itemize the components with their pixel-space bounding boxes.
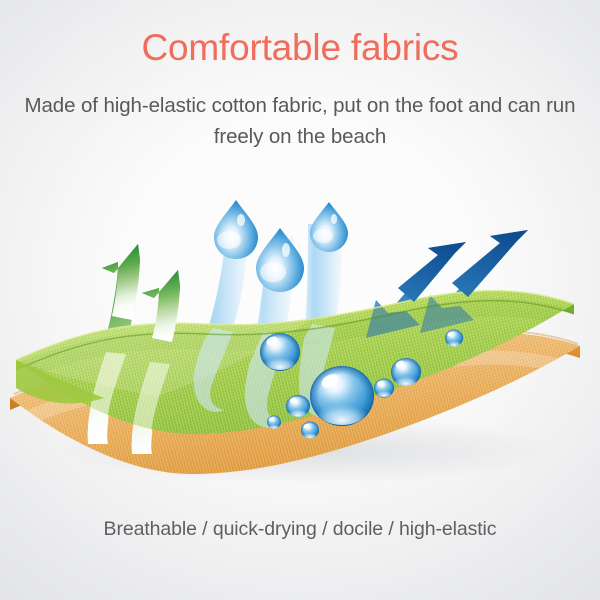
- vapor-droplet-3: [310, 202, 348, 252]
- vapor-droplet-2: [256, 228, 304, 292]
- vapor-droplet-1: [214, 200, 258, 259]
- surface-droplet-small-2: [374, 379, 394, 398]
- surface-droplet-small-1: [286, 395, 310, 417]
- poster-root: Comfortable fabrics Made of high-elastic…: [0, 0, 600, 600]
- feature-list-caption: Breathable / quick-drying / docile / hig…: [0, 515, 600, 543]
- surface-droplet-medium-2: [391, 358, 421, 386]
- surface-droplet-tiny-1: [445, 330, 463, 347]
- surface-droplet-large: [310, 366, 374, 426]
- surface-droplet-tiny-2: [267, 415, 281, 428]
- surface-droplet-small-3: [301, 422, 319, 439]
- page-subtitle: Made of high-elastic cotton fabric, put …: [22, 90, 578, 152]
- surface-droplet-medium-1: [260, 333, 300, 371]
- page-title: Comfortable fabrics: [0, 26, 600, 70]
- fabric-illustration: [8, 182, 592, 482]
